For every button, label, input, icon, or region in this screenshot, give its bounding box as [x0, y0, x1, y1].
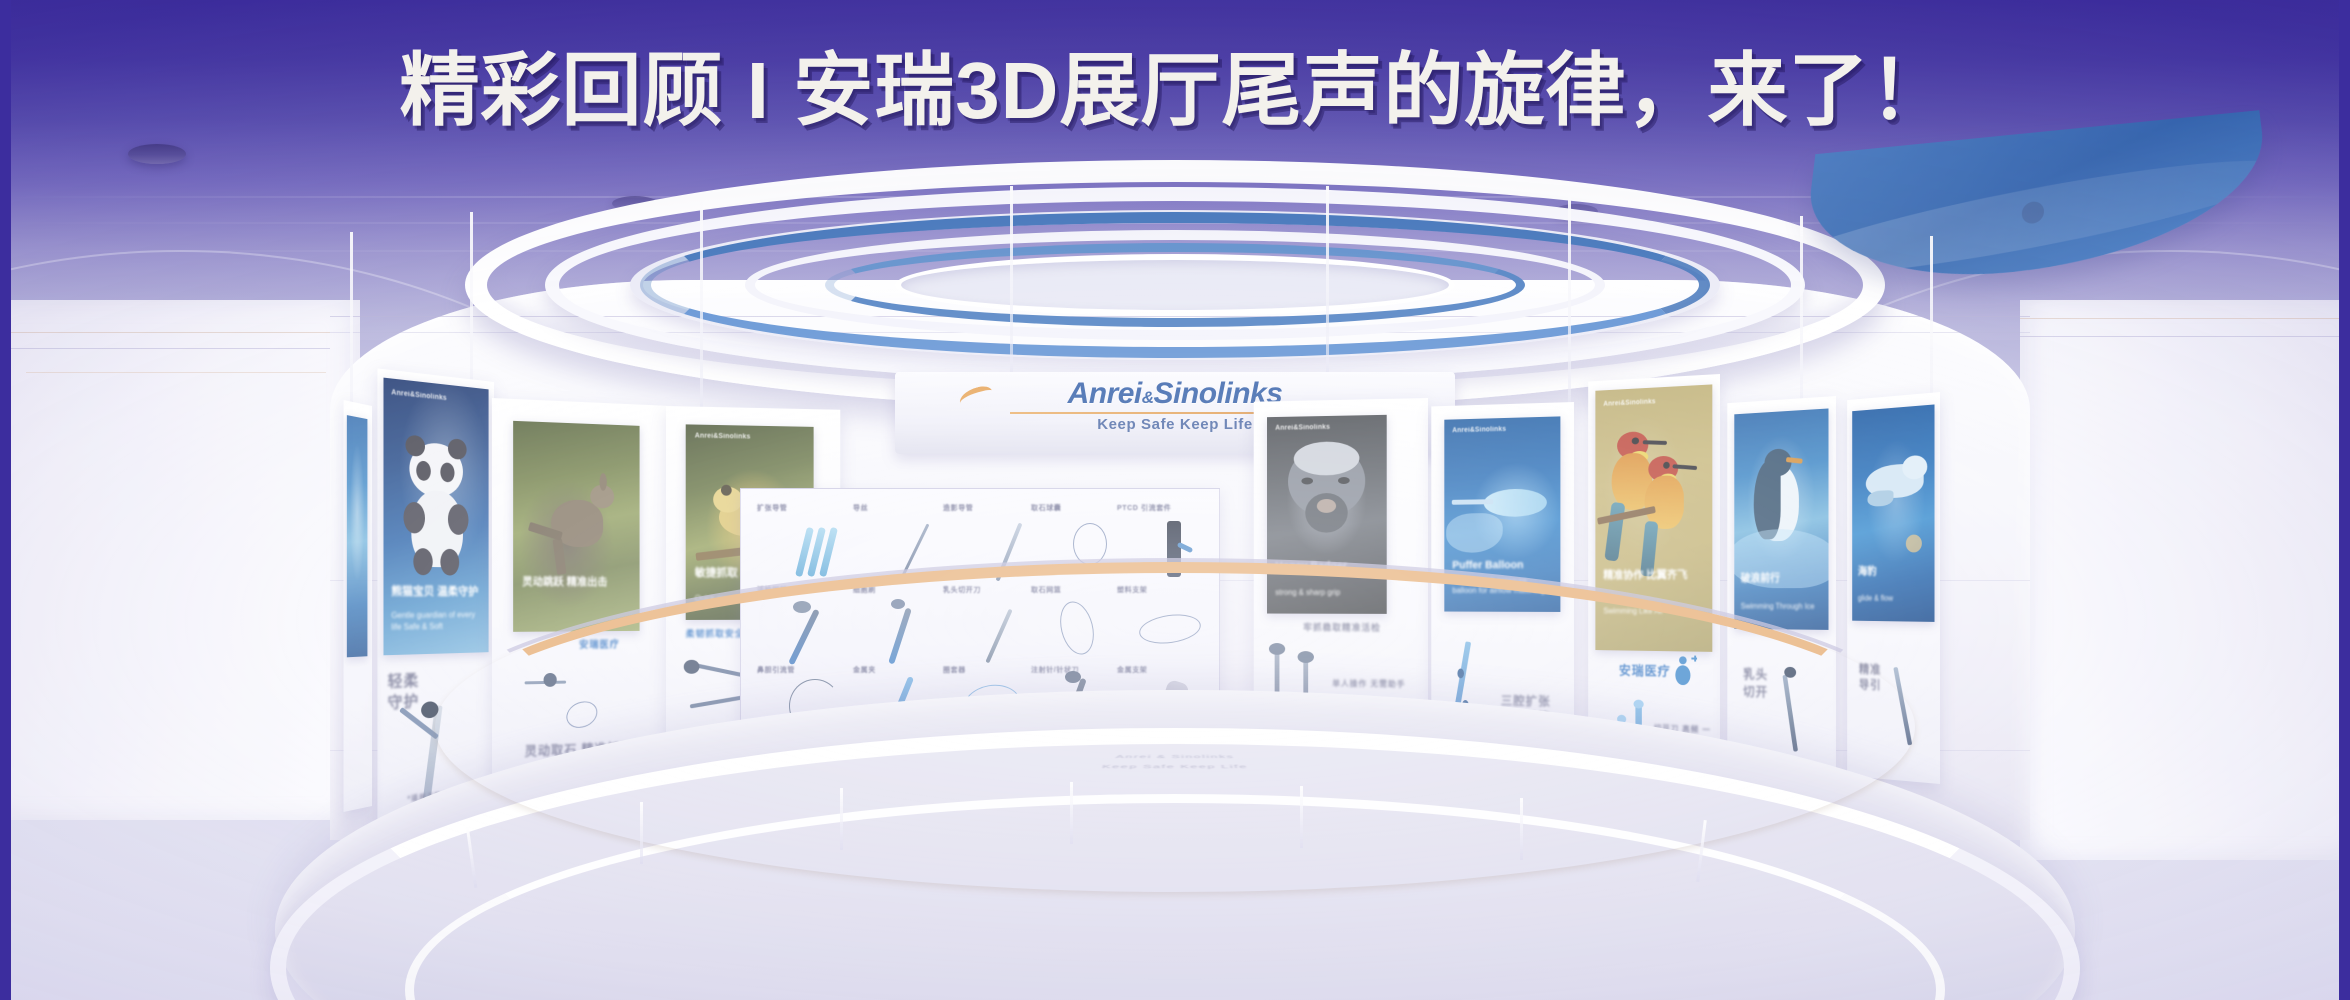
poster-subtitle: Swimming Through Ice: [1741, 602, 1822, 612]
poster-brand: Anrei&Sinolinks: [391, 390, 447, 403]
poster-title: 破浪前行: [1741, 572, 1822, 586]
panda-ear: [405, 435, 425, 457]
poster-title: 精准协作 比翼齐飞: [1603, 569, 1704, 583]
product-label: 导丝: [853, 503, 868, 513]
panda-arm: [403, 502, 425, 534]
poster-subtitle: glide & flow: [1858, 594, 1929, 605]
poster-subtitle: Gentle guardian of every life Safe & Sof…: [391, 610, 481, 633]
product-label: 取石球囊: [1031, 503, 1061, 513]
exhibit-panel-edge-left[interactable]: [344, 400, 372, 812]
poster-title: 海豹: [1858, 565, 1929, 579]
showroom-banner: Anrei&Sinolinks Keep Safe Keep Life Anre…: [0, 0, 2350, 1000]
poster-kangaroo: 灵动跳跃 精准出击: [513, 421, 639, 632]
balloon-shaft: [1452, 499, 1493, 505]
wall-trim: [0, 332, 330, 333]
platform-rail-orange: [435, 562, 1915, 892]
wall-trim: [2020, 318, 2350, 319]
poster-brand: Anrei&Sinolinks: [695, 432, 751, 440]
rail-post: [1300, 786, 1303, 848]
page-title: 精彩回顾 I 安瑞3D展厅尾声的旋律，来了！: [0, 26, 2350, 142]
panda-ear: [448, 438, 467, 460]
badger-nose: [1317, 499, 1336, 513]
bird-beak: [1643, 440, 1667, 445]
rail-post: [1070, 782, 1073, 844]
wall-trim: [26, 372, 326, 373]
left-edge-border: [0, 0, 11, 1000]
brand-name-part1: Anrei: [1068, 377, 1142, 410]
seal-fin: [1868, 490, 1894, 507]
poster-title: 灵动跳跃 精准出击: [522, 576, 631, 590]
panda-eye: [440, 462, 454, 482]
rail-post: [640, 802, 643, 864]
poster-brand: Anrei&Sinolinks: [1603, 398, 1655, 407]
wall-trim: [0, 348, 330, 349]
panda-leg: [413, 548, 432, 575]
product-label: 造影导管: [943, 503, 973, 513]
frog-eye: [721, 485, 732, 496]
balloon-body: [1484, 488, 1547, 517]
poster-title: 熊猫宝贝 温柔守护: [391, 585, 481, 600]
poster-brand: Anrei&Sinolinks: [1452, 426, 1506, 434]
wall-right: [2020, 300, 2350, 860]
panda-leg: [440, 549, 459, 576]
poster-edge-left: [347, 415, 368, 657]
seal-sun: [1906, 534, 1922, 552]
poster-brand: Anrei&Sinolinks: [1275, 424, 1330, 432]
wall-left: [0, 300, 360, 820]
product-label: PTCD 引流套件: [1117, 503, 1171, 513]
ceiling-ring-core: [895, 254, 1455, 316]
poster-penguin: 破浪前行 Swimming Through Ice: [1734, 408, 1828, 629]
right-edge-border: [2339, 0, 2350, 1000]
wall-trim: [2020, 336, 2350, 337]
poster-panda: Anrei&Sinolinks 熊猫宝贝 温柔守护 Gentle guardia…: [383, 378, 488, 656]
rail-post: [1520, 798, 1523, 860]
panda-eye: [416, 460, 431, 481]
poster-seal: 海豹 glide & flow: [1852, 404, 1934, 621]
sweep-accent-dot: [2021, 200, 2043, 224]
balloon-wave: [1446, 513, 1503, 553]
bird-tail: [1604, 502, 1625, 562]
product-label: 扩张导管: [757, 503, 787, 513]
kangaroo-ear: [599, 473, 606, 491]
ceiling-light: [128, 144, 186, 164]
brand-ampersand: &: [1142, 388, 1154, 407]
panda-arm: [448, 504, 469, 535]
rail-post: [840, 788, 843, 850]
